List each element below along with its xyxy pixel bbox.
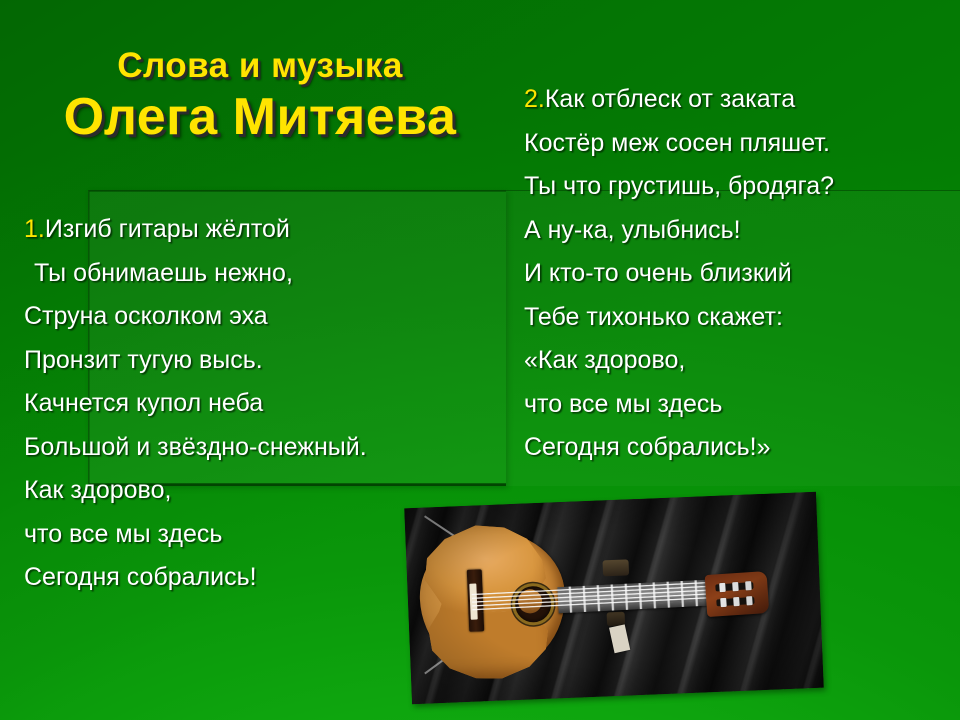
title-line-1: Слова и музыка <box>0 44 520 88</box>
slide-title: Слова и музыка Олега Митяева <box>0 44 520 146</box>
verse-line: Качнется купол неба <box>24 382 524 426</box>
verse-line: Тебе тихонько скажет: <box>524 296 954 340</box>
verse-line: Сегодня собрались!» <box>524 426 954 470</box>
verse-line-text: Изгиб гитары жёлтой <box>45 215 290 243</box>
guitar-photo <box>404 492 824 704</box>
verse-line: что все мы здесь <box>524 383 954 427</box>
verse-line: Ты обнимаешь нежно, <box>24 252 524 296</box>
verse-number: 2. <box>524 85 545 113</box>
verse-line: Струна осколком эха <box>24 295 524 339</box>
presentation-slide: Слова и музыка Олега Митяева 1.Изгиб гит… <box>0 0 960 720</box>
verse-line: 2.Как отблеск от заката <box>524 78 954 122</box>
verse-line: И кто-то очень близкий <box>524 252 954 296</box>
title-line-2: Олега Митяева <box>0 88 520 146</box>
verse-line: Пронзит тугую высь. <box>24 339 524 383</box>
verse-line-text: Как отблеск от заката <box>545 85 795 113</box>
verse-2-block: 2.Как отблеск от заката Костёр меж сосен… <box>524 78 954 470</box>
verse-line: Ты что грустишь, бродяга? <box>524 165 954 209</box>
verse-line: Костёр меж сосен пляшет. <box>524 122 954 166</box>
photo-backdrop <box>404 492 824 704</box>
verse-line: 1.Изгиб гитары жёлтой <box>24 208 524 252</box>
verse-line: А ну-ка, улыбнись! <box>524 209 954 253</box>
photo-vignette <box>404 492 824 704</box>
verse-number: 1. <box>24 215 45 243</box>
verse-line: Большой и звёздно-снежный. <box>24 426 524 470</box>
verse-line: «Как здорово, <box>524 339 954 383</box>
